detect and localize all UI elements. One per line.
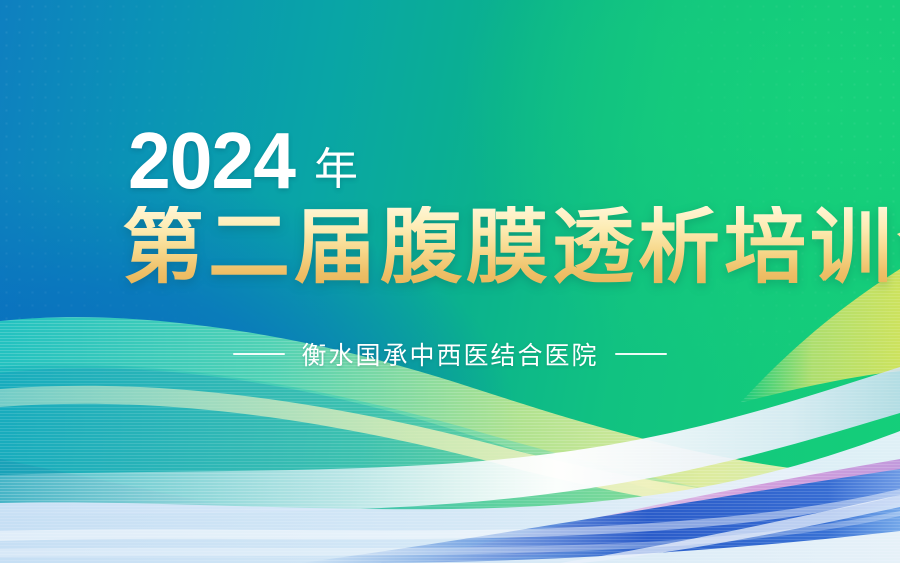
year-heading: 2024 年 [128, 126, 358, 196]
rule-left-icon [233, 353, 285, 355]
page-title: 第二届腹膜透析培训会 [122, 206, 900, 290]
year-suffix-character: 年 [314, 148, 358, 192]
poster-canvas: 2024 年 第二届腹膜透析培训会 衡水国承中西医结合医院 [0, 0, 900, 563]
poster-content: 2024 年 第二届腹膜透析培训会 衡水国承中西医结合医院 [0, 0, 900, 400]
rule-right-icon [615, 353, 667, 355]
subtitle-row: 衡水国承中西医结合医院 [0, 336, 900, 372]
year-number: 2024 [128, 126, 295, 196]
subtitle-text: 衡水国承中西医结合医院 [301, 336, 598, 372]
